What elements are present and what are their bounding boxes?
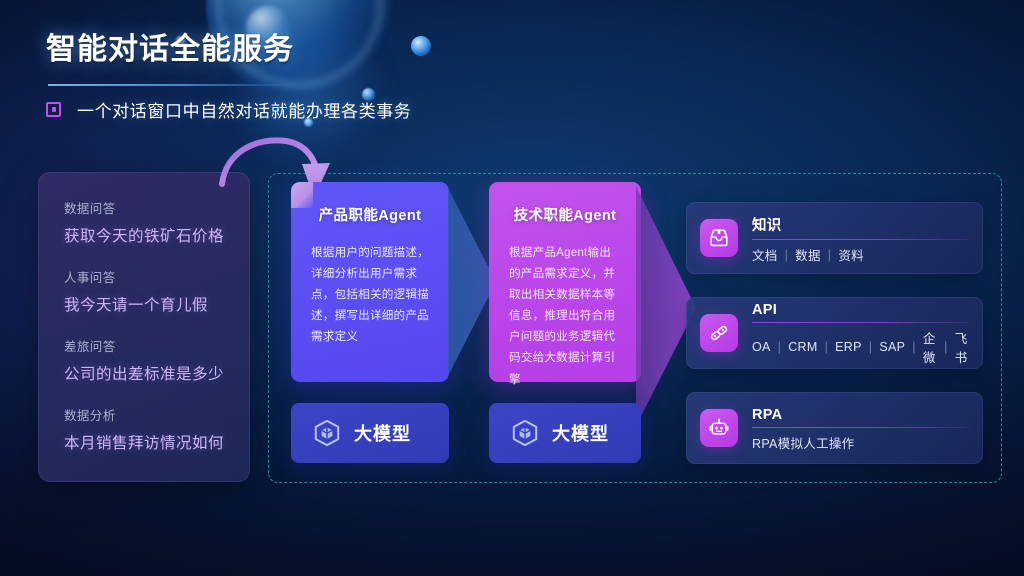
list-item[interactable]: 数据分析 本月销售拜访情况如何 xyxy=(64,405,250,453)
qa-value: 我今天请一个育儿假 xyxy=(64,293,250,315)
tag: 文档 xyxy=(752,245,778,264)
tag: OA xyxy=(752,340,771,354)
agent-card-product[interactable]: 产品职能Agent 根据用户的问题描述，详细分析出用户需求点，包括相关的逻辑描述… xyxy=(291,182,449,382)
header: 智能对话全能服务 xyxy=(46,24,294,68)
link-chain-icon xyxy=(700,314,738,352)
agent-title: 技术职能Agent xyxy=(509,204,621,225)
model-label: 大模型 xyxy=(354,420,411,446)
qa-value: 本月销售拜访情况如何 xyxy=(64,431,250,453)
qa-label: 人事问答 xyxy=(64,267,250,286)
agent-body: 根据用户的问题描述，详细分析出用户需求点，包括相关的逻辑描述，撰写出详细的产品需… xyxy=(311,242,429,347)
page-title: 智能对话全能服务 xyxy=(46,24,294,68)
capability-title: API xyxy=(752,302,969,318)
tag: CRM xyxy=(788,340,817,354)
capability-title: 知识 xyxy=(752,214,969,235)
tag: 飞书 xyxy=(955,328,969,366)
agent-title: 产品职能Agent xyxy=(311,204,429,225)
question-examples-panel: 数据问答 获取今天的铁矿石价格 人事问答 我今天请一个育儿假 差旅问答 公司的出… xyxy=(38,172,250,482)
tag: 数据 xyxy=(795,245,821,264)
subtitle-text: 一个对话窗口中自然对话就能办理各类事务 xyxy=(77,97,411,122)
qa-label: 数据分析 xyxy=(64,405,250,424)
qa-label: 差旅问答 xyxy=(64,336,250,355)
qa-value: 公司的出差标准是多少 xyxy=(64,362,250,384)
square-outline-icon xyxy=(46,102,61,117)
capability-tags: 文档 | 数据 | 资料 xyxy=(752,245,969,264)
title-underline xyxy=(48,84,296,86)
inbox-archive-icon xyxy=(700,219,738,257)
divider xyxy=(752,322,969,323)
divider xyxy=(752,239,969,240)
capability-tags: OA | CRM | ERP | SAP | 企微 | 飞书 xyxy=(752,328,969,366)
cube-icon xyxy=(313,419,341,447)
tag: 企微 xyxy=(923,328,937,366)
model-card[interactable]: 大模型 xyxy=(489,403,641,463)
capability-desc: RPA模拟人工操作 xyxy=(752,433,969,452)
tag-separator: | xyxy=(785,248,789,262)
capability-body: API OA | CRM | ERP | SAP | 企微 | 飞书 xyxy=(752,300,969,366)
tag-separator: | xyxy=(828,248,832,262)
capability-body: RPA RPA模拟人工操作 xyxy=(752,405,969,452)
qa-value: 获取今天的铁矿石价格 xyxy=(64,224,250,246)
agent-body: 根据产品Agent输出的产品需求定义，并取出相关数据样本等信息，推理出符合用户问… xyxy=(509,242,621,390)
list-item[interactable]: 差旅问答 公司的出差标准是多少 xyxy=(64,336,250,384)
list-item[interactable]: 人事问答 我今天请一个育儿假 xyxy=(64,267,250,315)
model-label: 大模型 xyxy=(552,420,609,446)
tag: 资料 xyxy=(838,245,864,264)
tag-separator: | xyxy=(825,340,829,354)
subtitle-row: 一个对话窗口中自然对话就能办理各类事务 xyxy=(46,97,411,122)
capability-card-knowledge[interactable]: 知识 文档 | 数据 | 资料 xyxy=(686,202,983,274)
tag-separator: | xyxy=(778,340,782,354)
robot-icon xyxy=(700,409,738,447)
tag: SAP xyxy=(879,340,905,354)
capability-card-rpa[interactable]: RPA RPA模拟人工操作 xyxy=(686,392,983,464)
agent-card-technical[interactable]: 技术职能Agent 根据产品Agent输出的产品需求定义，并取出相关数据样本等信… xyxy=(489,182,641,382)
capability-body: 知识 文档 | 数据 | 资料 xyxy=(752,212,969,264)
capability-card-api[interactable]: API OA | CRM | ERP | SAP | 企微 | 飞书 xyxy=(686,297,983,369)
tag-separator: | xyxy=(869,340,873,354)
tag: ERP xyxy=(835,340,862,354)
capability-title: RPA xyxy=(752,407,969,423)
model-card[interactable]: 大模型 xyxy=(291,403,449,463)
cube-icon xyxy=(511,419,539,447)
tag-separator: | xyxy=(944,340,948,354)
tag-separator: | xyxy=(912,340,916,354)
divider xyxy=(752,427,969,428)
card-corner-fold xyxy=(291,182,313,208)
